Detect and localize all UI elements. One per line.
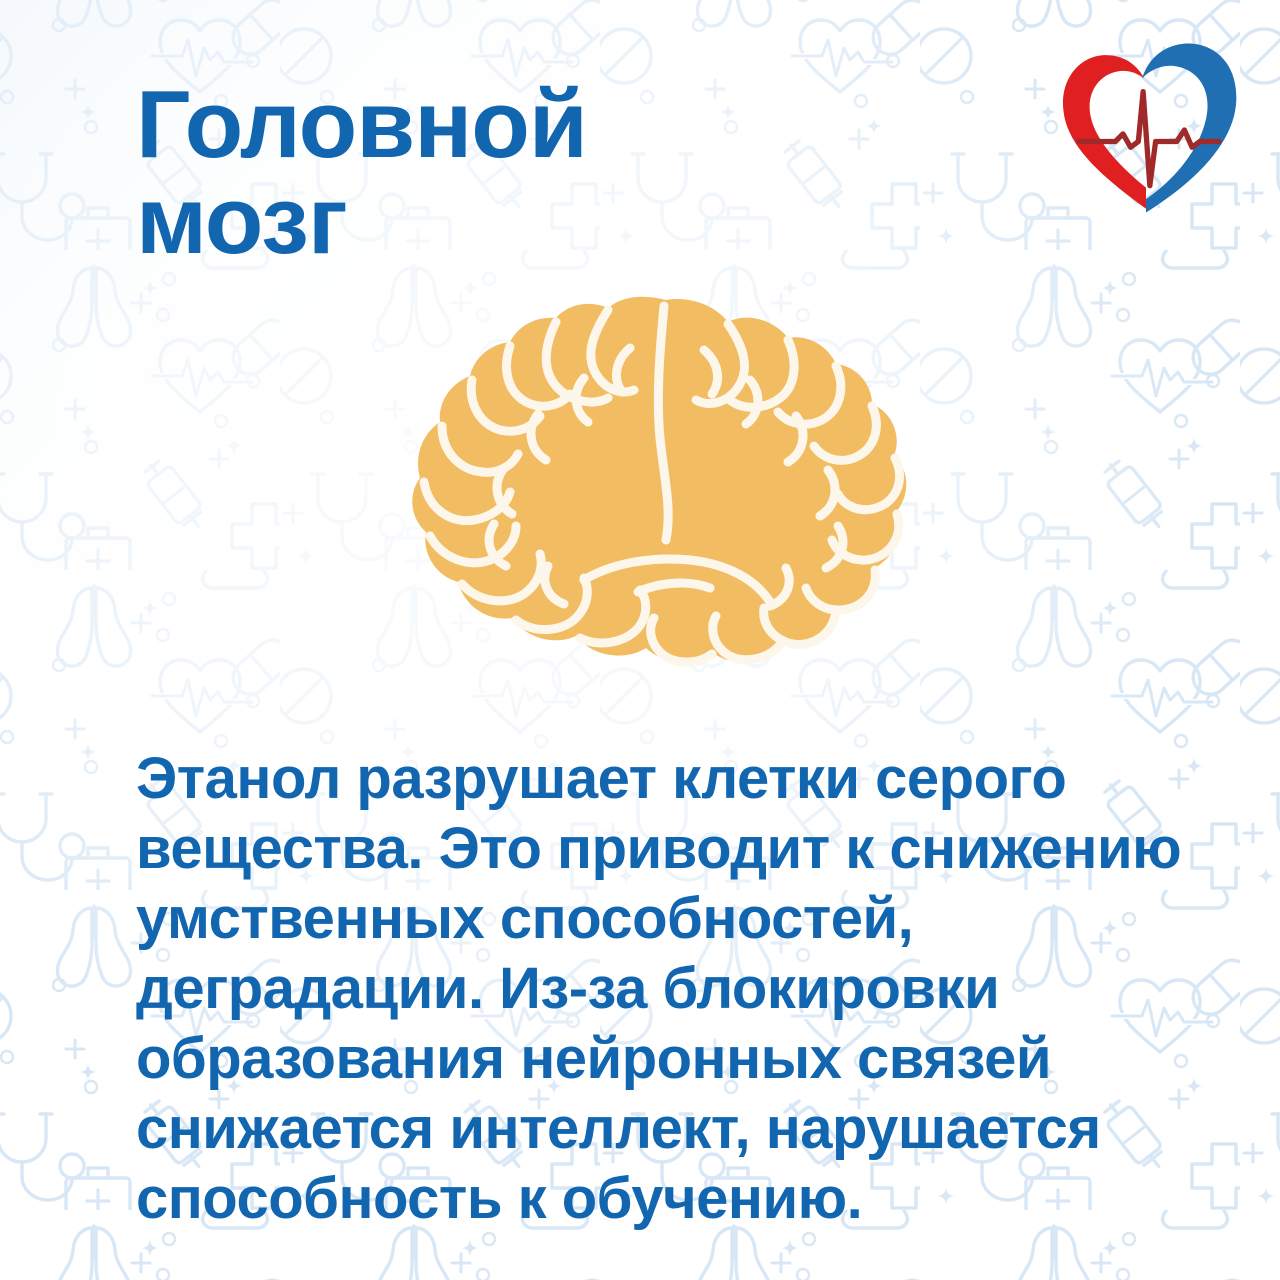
body-paragraph: Этанол разрушает клетки серого вещества.… (136, 744, 1146, 1234)
logo-right-half (1142, 43, 1236, 212)
body-line-7: способность к обучению. (136, 1164, 1146, 1234)
brain-illustration (398, 288, 926, 680)
brain-shape (412, 297, 906, 662)
page-title-line-2: мозг (136, 173, 836, 269)
body-line-3: умственных способностей, (136, 884, 1146, 954)
page-title-line-1: Головной (136, 77, 836, 173)
body-line-1: Этанол разрушает клетки серого (136, 744, 1146, 814)
body-line-5: образования нейронных связей (136, 1024, 1146, 1094)
body-line-2: вещества. Это приводит к снижению (136, 814, 1146, 884)
page-title: Головной мозг (136, 77, 836, 269)
body-line-6: снижается интеллект, нарушается (136, 1094, 1146, 1164)
logo-left-half (1063, 55, 1146, 209)
heart-ecg-logo (1050, 34, 1242, 226)
body-line-4: деградации. Из-за блокировки (136, 954, 1146, 1024)
infographic-poster: Головной мозг (0, 0, 1280, 1280)
